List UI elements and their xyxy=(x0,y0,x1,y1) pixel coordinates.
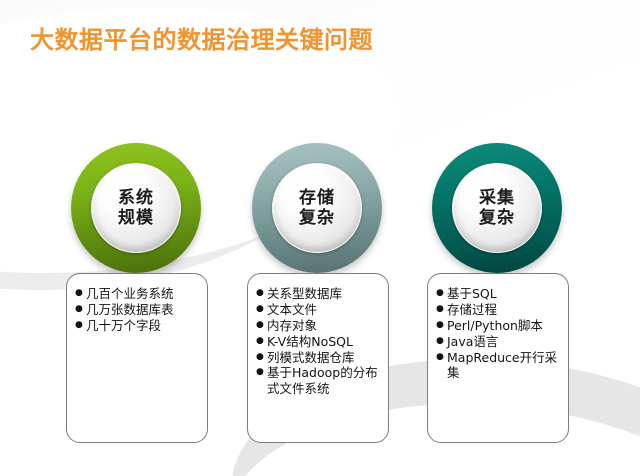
list-item: 关系型数据库 xyxy=(256,286,382,302)
bullet-list-system-scale: 几百个业务系统 几万张数据库表 几十万个字段 xyxy=(75,286,201,334)
list-item: 内存对象 xyxy=(256,318,382,334)
circle-badge-inner-storage-complexity: 存储 复杂 xyxy=(272,163,362,253)
list-item: 几十万个字段 xyxy=(75,318,201,334)
list-item: 基于SQL xyxy=(436,286,562,302)
list-item: 基于Hadoop的分布式文件系统 xyxy=(256,365,382,397)
circle-badge-inner-system-scale: 系统 规模 xyxy=(91,163,181,253)
list-item: K-V结构NoSQL xyxy=(256,334,382,350)
list-item: 列模式数据仓库 xyxy=(256,350,382,366)
list-item: 几百个业务系统 xyxy=(75,286,201,302)
bullet-list-storage-complexity: 关系型数据库 文本文件 内存对象 K-V结构NoSQL 列模式数据仓库 基于Ha… xyxy=(256,286,382,397)
circle-badge-system-scale[interactable]: 系统 规模 xyxy=(71,143,201,273)
circle-badge-inner-collection-complexity: 采集 复杂 xyxy=(452,163,542,253)
circle-badge-collection-complexity[interactable]: 采集 复杂 xyxy=(432,143,562,273)
badge-label-line2: 复杂 xyxy=(479,208,515,228)
columns-container: 系统 规模 几百个业务系统 几万张数据库表 几十万个字段 存储 xyxy=(0,0,640,476)
badge-label-line2: 规模 xyxy=(118,208,154,228)
column-collection-complexity: 采集 复杂 基于SQL 存储过程 Perl/Python脚本 Java语言 Ma… xyxy=(411,143,583,275)
circle-badge-storage-complexity[interactable]: 存储 复杂 xyxy=(252,143,382,273)
bullet-list-collection-complexity: 基于SQL 存储过程 Perl/Python脚本 Java语言 MapReduc… xyxy=(436,286,562,381)
badge-label-line1: 存储 xyxy=(299,188,335,208)
bullet-card-collection-complexity: 基于SQL 存储过程 Perl/Python脚本 Java语言 MapReduc… xyxy=(427,273,569,443)
column-storage-complexity: 存储 复杂 关系型数据库 文本文件 内存对象 K-V结构NoSQL 列模式数据仓… xyxy=(231,143,403,275)
column-system-scale: 系统 规模 几百个业务系统 几万张数据库表 几十万个字段 xyxy=(50,143,222,275)
bullet-card-storage-complexity: 关系型数据库 文本文件 内存对象 K-V结构NoSQL 列模式数据仓库 基于Ha… xyxy=(247,273,389,443)
list-item: 几万张数据库表 xyxy=(75,302,201,318)
badge-wrap-collection-complexity: 采集 复杂 xyxy=(411,143,583,275)
badge-label-line1: 采集 xyxy=(479,188,515,208)
list-item: Perl/Python脚本 xyxy=(436,318,562,334)
list-item: 文本文件 xyxy=(256,302,382,318)
list-item: 存储过程 xyxy=(436,302,562,318)
badge-label-line2: 复杂 xyxy=(299,208,335,228)
page-title: 大数据平台的数据治理关键问题 xyxy=(30,20,373,55)
list-item: Java语言 xyxy=(436,334,562,350)
bullet-card-system-scale: 几百个业务系统 几万张数据库表 几十万个字段 xyxy=(66,273,208,443)
list-item: MapReduce开行采集 xyxy=(436,350,562,382)
badge-wrap-system-scale: 系统 规模 xyxy=(50,143,222,275)
badge-label-line1: 系统 xyxy=(118,188,154,208)
slide-canvas: 大数据平台的数据治理关键问题 系统 规模 几百个业务系统 几万张数据库表 几十万… xyxy=(0,0,640,476)
badge-wrap-storage-complexity: 存储 复杂 xyxy=(231,143,403,275)
